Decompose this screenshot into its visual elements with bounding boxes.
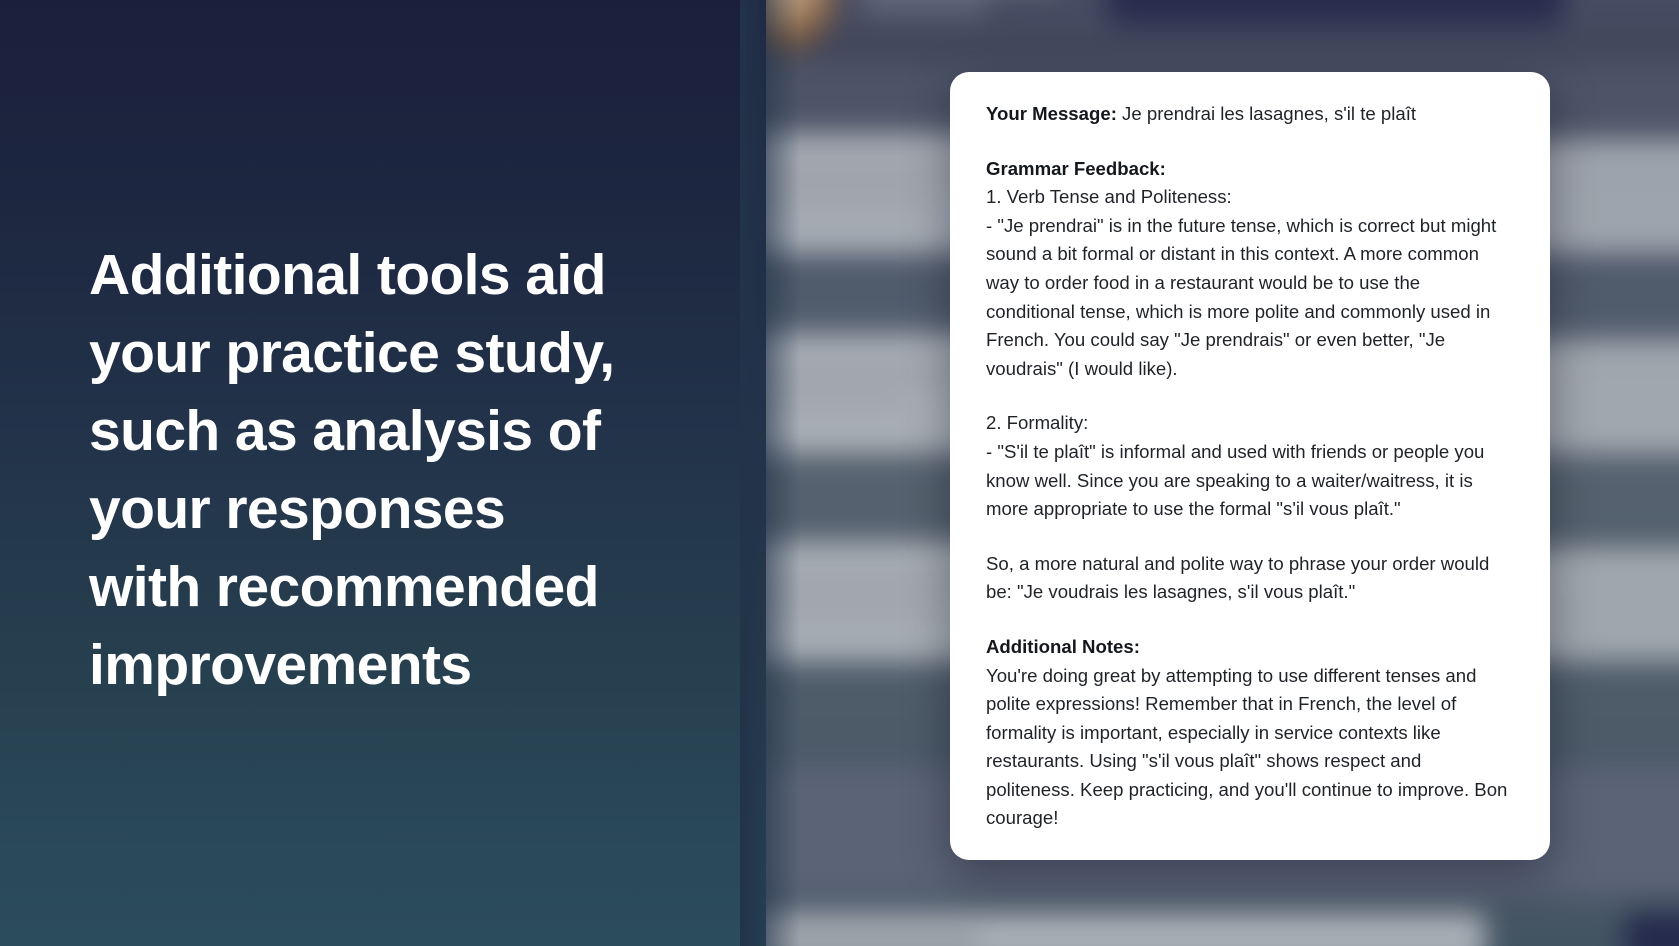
point-2-title: 2. Formality: xyxy=(986,409,1514,438)
spacer xyxy=(986,607,1514,633)
point-1-title: 1. Verb Tense and Politeness: xyxy=(986,183,1514,212)
your-message-row: Your Message: Je prendrai les lasagnes, … xyxy=(986,100,1514,129)
page-root: Additional tools aid your practice study… xyxy=(0,0,1679,946)
your-message-text: Je prendrai les lasagnes, s'il te plaît xyxy=(1117,103,1416,124)
grammar-feedback-modal: Your Message: Je prendrai les lasagnes, … xyxy=(950,72,1550,860)
message-input[interactable] xyxy=(712,913,1486,946)
spacer xyxy=(986,524,1514,550)
app-header-action-pill[interactable] xyxy=(1106,0,1565,25)
page-title: Additional tools aid your practice study… xyxy=(89,236,729,704)
send-button[interactable] xyxy=(1624,913,1679,946)
spacer xyxy=(986,383,1514,409)
point-2-body: - "S'il te plaît" is informal and used w… xyxy=(986,438,1514,524)
grammar-feedback-heading: Grammar Feedback: xyxy=(986,155,1514,184)
app-header-subtitle-placeholder xyxy=(863,0,985,15)
spacer xyxy=(986,129,1514,155)
message-composer xyxy=(712,894,1679,946)
hero-panel: Additional tools aid your practice study… xyxy=(0,0,766,946)
conclusion-text: So, a more natural and polite way to phr… xyxy=(986,550,1514,607)
additional-notes-heading: Additional Notes: xyxy=(986,633,1514,662)
your-message-label: Your Message: xyxy=(986,103,1117,124)
point-1-body: - "Je prendrai" is in the future tense, … xyxy=(986,212,1514,384)
additional-notes-body: You're doing great by attempting to use … xyxy=(986,662,1514,834)
app-header xyxy=(712,0,1679,60)
